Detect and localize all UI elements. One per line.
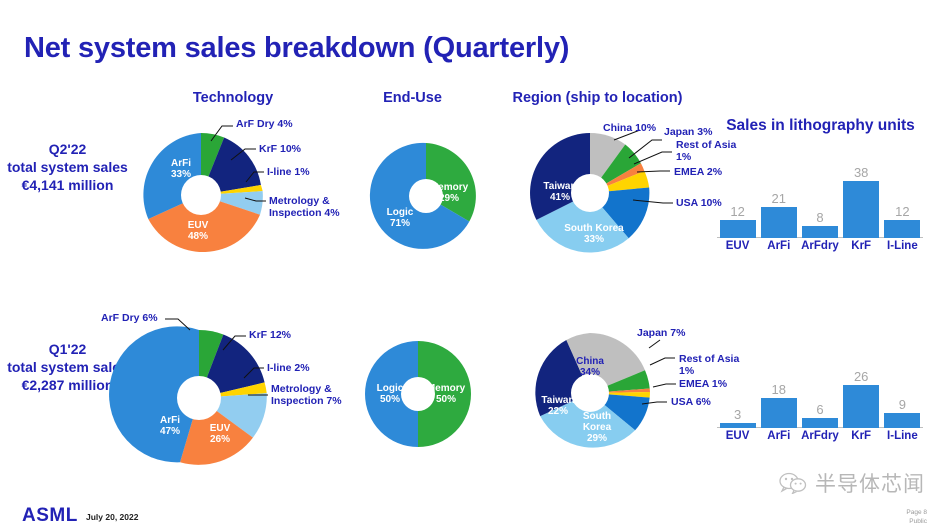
q2-tech-callout-metrology: Metrology & Inspection 4% [269,195,361,219]
q1-enduse-memory-value: 50% [436,394,456,405]
q2-enduse-memory-value: 29% [439,193,459,204]
chart-q2-region: Taiwan 41% South Korea 33% [527,130,653,256]
page-title: Net system sales breakdown (Quarterly) [24,32,569,65]
q2-region-taiwan-name: Taiwan [543,181,576,192]
q2-subtitle: total system sales [0,158,135,176]
footer-date: July 20, 2022 [86,512,138,522]
bar-value-i-line: 12 [882,204,923,219]
chart-q1-technology: ArFi 47% EUV 26% [128,327,270,469]
chart-q2-technology: ArFi 33% EUV 48% [136,130,266,260]
q2-amount: €4,141 million [0,176,135,194]
q1-enduse-memory-name: Memory [427,383,466,394]
bar-category-i-line: I-Line [882,240,923,252]
classification-label: Public [906,517,927,526]
bar-value-i-line: 9 [882,397,923,412]
q1-tech-callout-arfdry: ArF Dry 6% [101,312,158,324]
bar-i-line [884,413,920,428]
q1-region-taiwan-value: 22% [548,406,568,417]
q1-region-taiwan-name: Taiwan [541,395,574,406]
bar-arfdry [802,418,838,428]
slide-canvas: Net system sales breakdown (Quarterly) T… [0,0,943,531]
page-number-value: Page 8 [906,508,927,517]
q2-enduse-memory-name: Memory [430,182,469,193]
q1-tech-euv-name: EUV [210,423,231,434]
q2-region-sk-value: 33% [584,234,604,245]
bar-category-krf: KrF [841,430,882,442]
q1-region-china-name: China [576,356,604,367]
q2-tech-callout-krf: KrF 10% [259,143,301,155]
q1-tech-euv-value: 26% [210,434,230,445]
q2-tech-euv-name: EUV [188,220,209,231]
q2-region-sk-name: South Korea [564,223,624,234]
bar-category-arfi: ArFi [758,430,799,442]
q2-tech-callout-iline: I-line 1% [267,166,310,178]
column-header-sales-units: Sales in lithography units [713,116,928,135]
bar-value-euv: 3 [717,407,758,422]
q2-tech-euv-value: 48% [188,231,208,242]
q1-tech-callout-krf: KrF 12% [249,329,291,341]
q2-enduse-logic-value: 71% [390,218,410,229]
asml-logo: ASML [22,505,78,527]
bar-value-arfdry: 6 [799,402,840,417]
bar-krf [843,385,879,428]
bar-arfi [761,207,797,239]
q1-region-callout-japan: Japan 7% [637,327,685,339]
quarter-label-q2: Q2'22 total system sales €4,141 million [0,140,135,194]
q1-tech-arfi-name: ArFi [160,415,180,426]
wechat-watermark: 半导体芯闻 [779,468,925,498]
bar-i-line [884,220,920,238]
q1-region-sk-name-1: South [583,411,611,422]
chart-q1-region: China 34% Taiwan 22% South Korea 29% [527,330,653,456]
column-header-end-use: End-Use [340,90,485,106]
q1-enduse-logic-value: 50% [380,394,400,405]
bar-category-arfi: ArFi [758,240,799,252]
q1-tech-arfi-value: 47% [160,426,180,437]
page-number: Page 8 Public [906,508,927,526]
column-header-region: Region (ship to location) [490,90,705,106]
bar-euv [720,423,756,428]
q1-region-sk-value: 29% [587,433,607,444]
q1-region-china-value: 34% [580,367,600,378]
q2-region-callout-china: China 10% [603,122,656,134]
chart-q2-end-use: Memory 29% Logic 71% [370,140,482,252]
q1-region-sk-name-2: Korea [583,422,612,433]
chart-q1-units: 3186269 EUVArFiArFdryKrFI-Line [713,360,931,450]
watermark-text: 半导体芯闻 [815,468,925,498]
q1-region-callout-usa: USA 6% [671,396,711,408]
bar-arfdry [802,226,838,238]
q2-quarter: Q2'22 [0,140,135,158]
bar-category-euv: EUV [717,240,758,252]
bar-category-krf: KrF [841,240,882,252]
bar-value-arfdry: 8 [799,210,840,225]
wechat-icon [779,472,807,494]
bar-value-arfi: 18 [758,382,799,397]
column-header-technology: Technology [143,90,323,106]
q1-tech-callout-iline: I-line 2% [267,362,310,374]
bar-category-arfdry: ArFdry [799,240,840,252]
q2-tech-arfi-name: ArFi [171,158,191,169]
bar-value-arfi: 21 [758,191,799,206]
bar-value-euv: 12 [717,204,758,219]
chart-q1-end-use: Logic 50% Memory 50% [362,338,474,450]
bar-euv [720,220,756,238]
bar-category-arfdry: ArFdry [799,430,840,442]
bar-category-euv: EUV [717,430,758,442]
bar-category-i-line: I-Line [882,430,923,442]
q1-tech-callout-metrology: Metrology & Inspection 7% [271,383,366,407]
q2-region-taiwan-value: 41% [550,192,570,203]
chart-q2-units: 122183812 EUVArFiArFdryKrFI-Line [713,160,931,260]
bar-krf [843,181,879,238]
bar-value-krf: 38 [841,165,882,180]
bar-arfi [761,398,797,428]
q2-enduse-logic-name: Logic [387,207,414,218]
q1-enduse-logic-name: Logic [377,383,404,394]
q2-tech-callout-arfdry: ArF Dry 4% [236,118,293,130]
q1-quarter: Q1'22 [0,340,135,358]
q2-region-callout-japan: Japan 3% [664,126,712,138]
bar-value-krf: 26 [841,369,882,384]
q2-tech-arfi-value: 33% [171,169,191,180]
